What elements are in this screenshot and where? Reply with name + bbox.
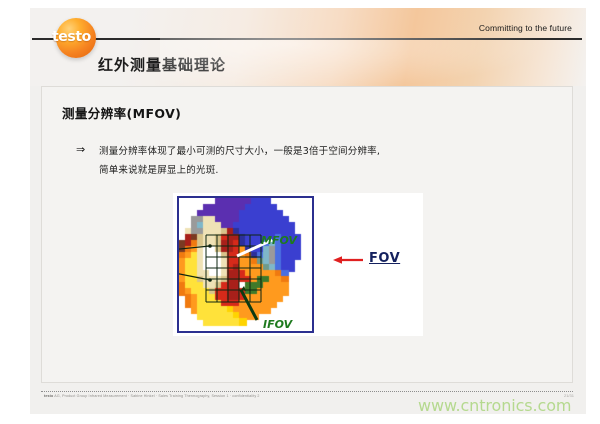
slide-content-panel: 测量分辨率(MFOV) ⇒ 测量分辨率体现了最小可测的尺寸大小，一般是3倍于空间… (41, 86, 573, 383)
thermal-image-frame: MFOV IFOV (177, 196, 314, 333)
mfov-label: MFOV (261, 234, 297, 247)
bullet-arrow-icon: ⇒ (76, 143, 85, 156)
mfov-grid (206, 235, 261, 302)
footer-credit-text: testo AG, Product Group Infrared Measure… (44, 394, 260, 398)
header-rule-right (94, 38, 582, 40)
fov-label: FOV (369, 251, 400, 266)
presentation-slide: testo Committing to the future 红外测量基础理论 … (30, 8, 586, 414)
footer-divider (41, 391, 573, 392)
slide-title: 红外测量基础理论 (98, 54, 226, 75)
section-title: 测量分辨率(MFOV) (62, 103, 181, 122)
header-tagline: Committing to the future (479, 23, 572, 33)
slide-header: testo Committing to the future 红外测量基础理论 (30, 8, 586, 86)
testo-logo-text: testo (52, 29, 104, 45)
fov-arrow-icon (333, 256, 363, 264)
bullet-text-line-1: 测量分辨率体现了最小可测的尺寸大小，一般是3倍于空间分辨率, (99, 143, 380, 157)
figure-overlay-annotations (179, 198, 312, 331)
site-watermark: www.cntronics.com (418, 396, 571, 415)
ifov-leader-line (241, 290, 257, 320)
bullet-text-line-2: 简单来说就是屏显上的光斑. (99, 162, 219, 176)
left-leader-lines (179, 246, 210, 280)
footer-brand: testo (44, 394, 53, 398)
figure-thermal-diagram: MFOV IFOV FOV (173, 193, 423, 336)
leader-node-upper (208, 244, 212, 248)
ifov-label: IFOV (263, 318, 292, 331)
leader-node-lower (208, 278, 212, 282)
footer-detail: AG, Product Group Infrared Measurement ·… (53, 394, 259, 398)
